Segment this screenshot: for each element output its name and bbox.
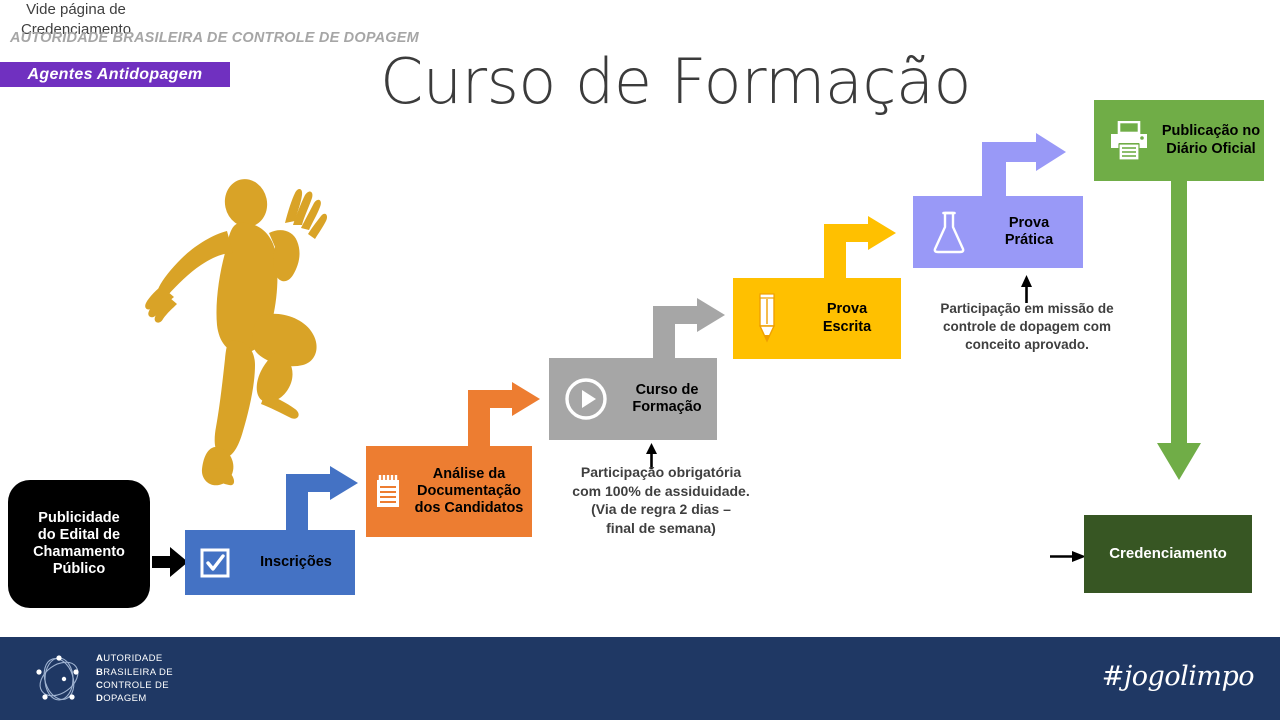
abcd-logo: AUTORIDADE BRASILEIRA DE CONTROLE DE DOP… — [32, 652, 292, 706]
checkbox-checked-icon — [193, 548, 237, 578]
arrow-publicidade-to-inscricoes-icon — [150, 542, 190, 582]
step-arrow-analise-to-curso-icon — [468, 382, 540, 448]
flow-step-publicacao-diario-oficial-label: Publicação no Diário Oficial — [1158, 123, 1264, 157]
agentes-antidopagem-tag: Agentes Antidopagem — [0, 62, 230, 87]
flow-step-curso-de-formacao-label: Curso de Formação — [617, 382, 717, 416]
step-arrow-escrita-to-pratica-icon — [824, 216, 896, 282]
footer-bar: AUTORIDADE BRASILEIRA DE CONTROLE DE DOP… — [0, 637, 1280, 720]
flow-step-publicacao-diario-oficial[interactable]: Publicação no Diário Oficial — [1094, 100, 1264, 181]
pencil-icon — [741, 293, 793, 345]
jogolimpo-hashtag: #jogolimpo — [1102, 661, 1254, 692]
annotation-curso-de-formacao: Participação obrigatória com 100% de ass… — [556, 463, 766, 537]
flow-step-prova-pratica[interactable]: Prova Prática — [913, 196, 1083, 268]
annotation-arrow-credenciamento-icon — [1050, 548, 1086, 566]
flask-icon — [923, 210, 975, 254]
flow-step-analise-documentacao-label: Análise da Documentação dos Candidatos — [406, 466, 532, 517]
running-athlete-silhouette-icon — [145, 165, 345, 490]
flow-step-inscricoes[interactable]: Inscrições — [185, 530, 355, 595]
notepad-icon — [370, 475, 406, 509]
flow-step-curso-de-formacao[interactable]: Curso de Formação — [549, 358, 717, 440]
flow-step-publicidade-label: Publicidade do Edital de Chamamento Públ… — [14, 510, 144, 578]
annotation-arrow-pratica-icon — [1015, 275, 1039, 303]
agentes-antidopagem-label: Agentes Antidopagem — [28, 66, 203, 84]
flow-step-credenciamento-label: Credenciamento — [1109, 545, 1227, 563]
flow-step-publicidade[interactable]: Publicidade do Edital de Chamamento Públ… — [8, 480, 150, 608]
play-circle-icon — [555, 376, 617, 422]
flow-step-credenciamento[interactable]: Credenciamento — [1084, 515, 1252, 593]
flow-step-prova-pratica-label: Prova Prática — [975, 215, 1083, 249]
step-arrow-pratica-to-publicacao-icon — [982, 133, 1066, 201]
step-arrow-curso-to-prova-escrita-icon — [653, 298, 725, 362]
abcd-logo-text: AUTORIDADE BRASILEIRA DE CONTROLE DE DOP… — [96, 652, 173, 706]
printer-icon — [1100, 121, 1158, 161]
abcd-molecule-logo-icon — [32, 654, 86, 704]
flow-step-inscricoes-label: Inscrições — [237, 554, 355, 571]
slide-canvas: AUTORIDADE BRASILEIRA DE CONTROLE DE DOP… — [0, 0, 1280, 720]
page-title: Curso de Formação — [380, 45, 920, 118]
arrow-publicacao-to-credenciamento-icon — [1155, 175, 1203, 480]
flow-step-prova-escrita[interactable]: Prova Escrita — [733, 278, 901, 359]
flow-step-analise-documentacao[interactable]: Análise da Documentação dos Candidatos — [366, 446, 532, 537]
step-arrow-inscricoes-to-analise-icon — [286, 466, 358, 532]
annotation-prova-pratica: Participação em missão de controle de do… — [922, 300, 1132, 354]
flow-step-prova-escrita-label: Prova Escrita — [793, 301, 901, 335]
organization-name: AUTORIDADE BRASILEIRA DE CONTROLE DE DOP… — [10, 30, 419, 46]
